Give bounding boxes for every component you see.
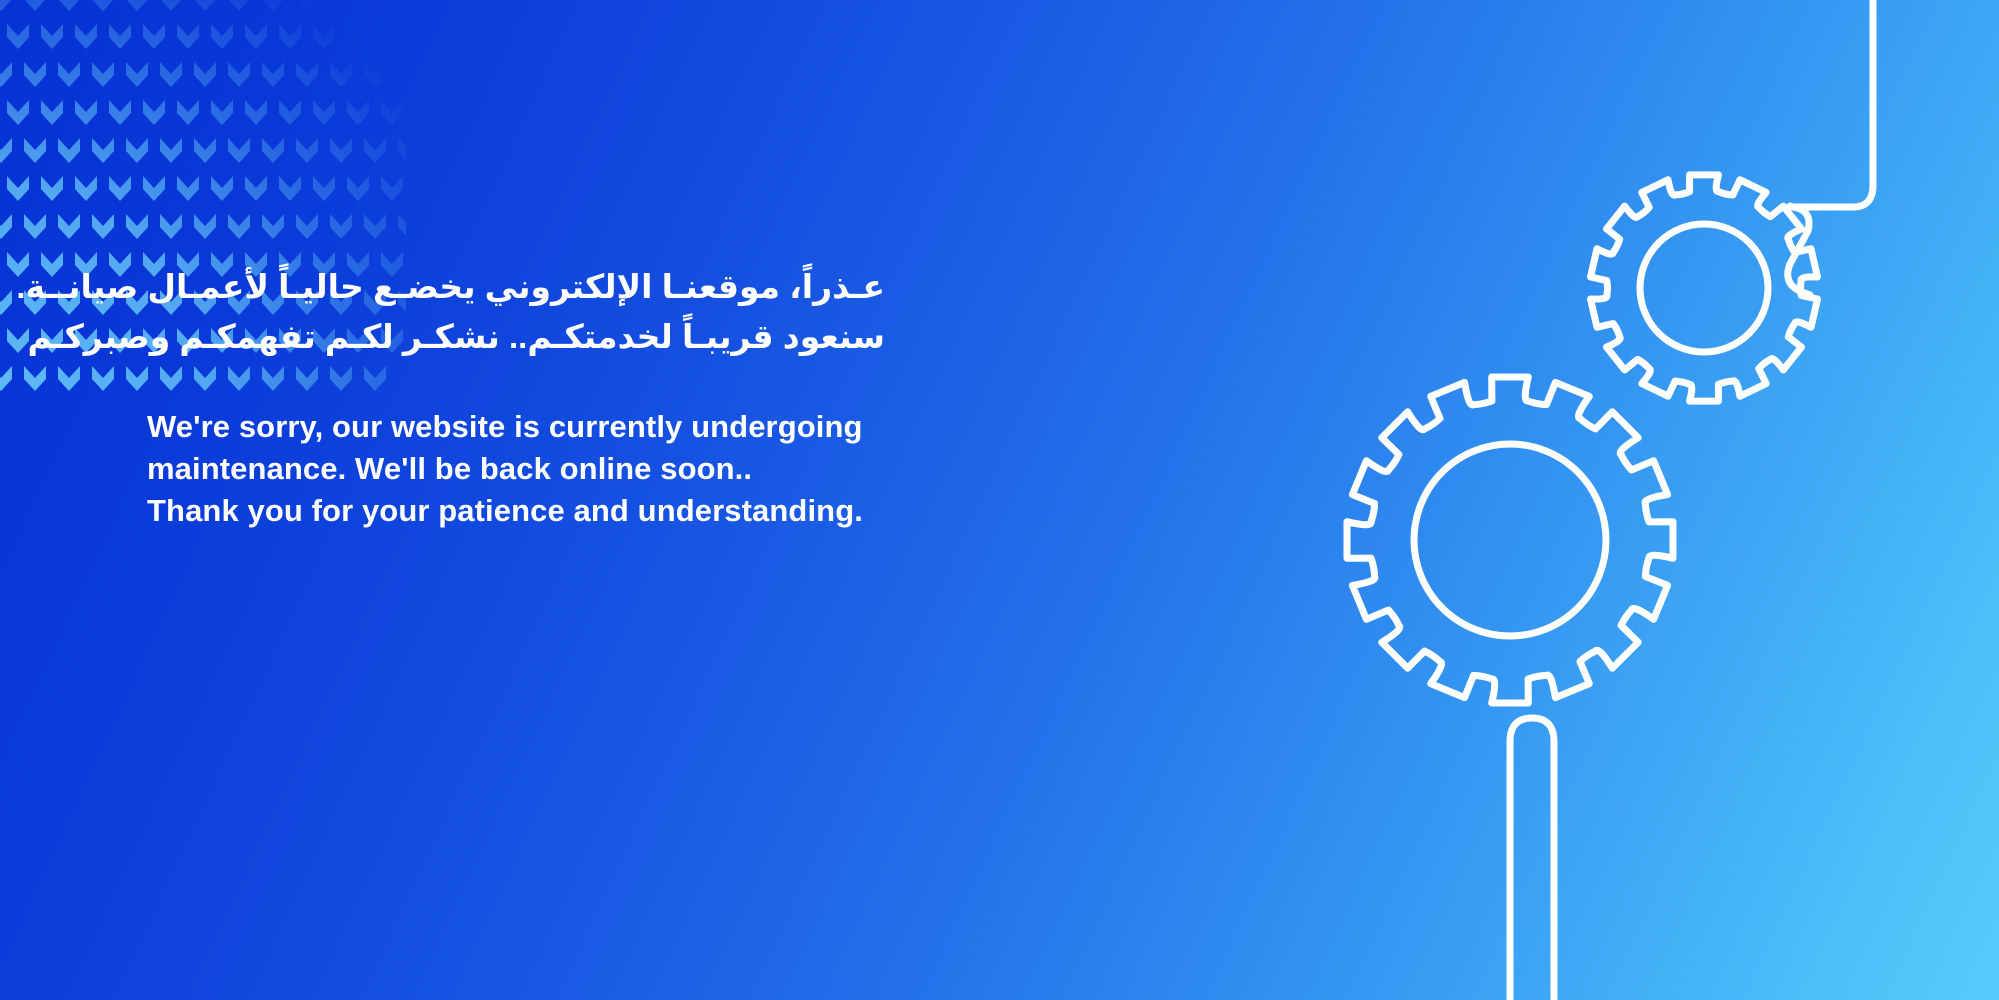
small-gear-hub (1640, 224, 1768, 352)
small-gear-teeth (1591, 175, 1818, 401)
small-gear-outline (1591, 175, 1818, 401)
english-line-2: maintenance. We'll be back online soon.. (147, 448, 1107, 490)
english-message: We're sorry, our website is currently un… (147, 406, 1107, 532)
gear-illustration (999, 0, 1999, 1000)
top-connector-line (1793, 0, 1873, 207)
english-line-1: We're sorry, our website is currently un… (147, 406, 1107, 448)
maintenance-message: عـذراً، موقعنـا الإلكتروني يخضـع حاليـاً… (147, 262, 1107, 532)
large-gear (1347, 377, 1673, 703)
large-gear-outline (1347, 377, 1673, 703)
large-gear-teeth (1347, 377, 1673, 703)
english-line-3: Thank you for your patience and understa… (147, 490, 1107, 532)
arabic-message: عـذراً، موقعنـا الإلكتروني يخضـع حاليـاً… (147, 262, 885, 362)
large-gear-hub (1414, 444, 1606, 636)
arabic-line-2: سنعود قريبـاً لخدمتكـم.. نشكـر لكـم تفهم… (147, 312, 885, 362)
arabic-line-1: عـذراً، موقعنـا الإلكتروني يخضـع حاليـاً… (147, 262, 885, 312)
bottom-connector-line (1510, 718, 1554, 1000)
maintenance-page: عـذراً، موقعنـا الإلكتروني يخضـع حاليـاً… (0, 0, 1999, 1000)
small-gear (1591, 175, 1818, 401)
